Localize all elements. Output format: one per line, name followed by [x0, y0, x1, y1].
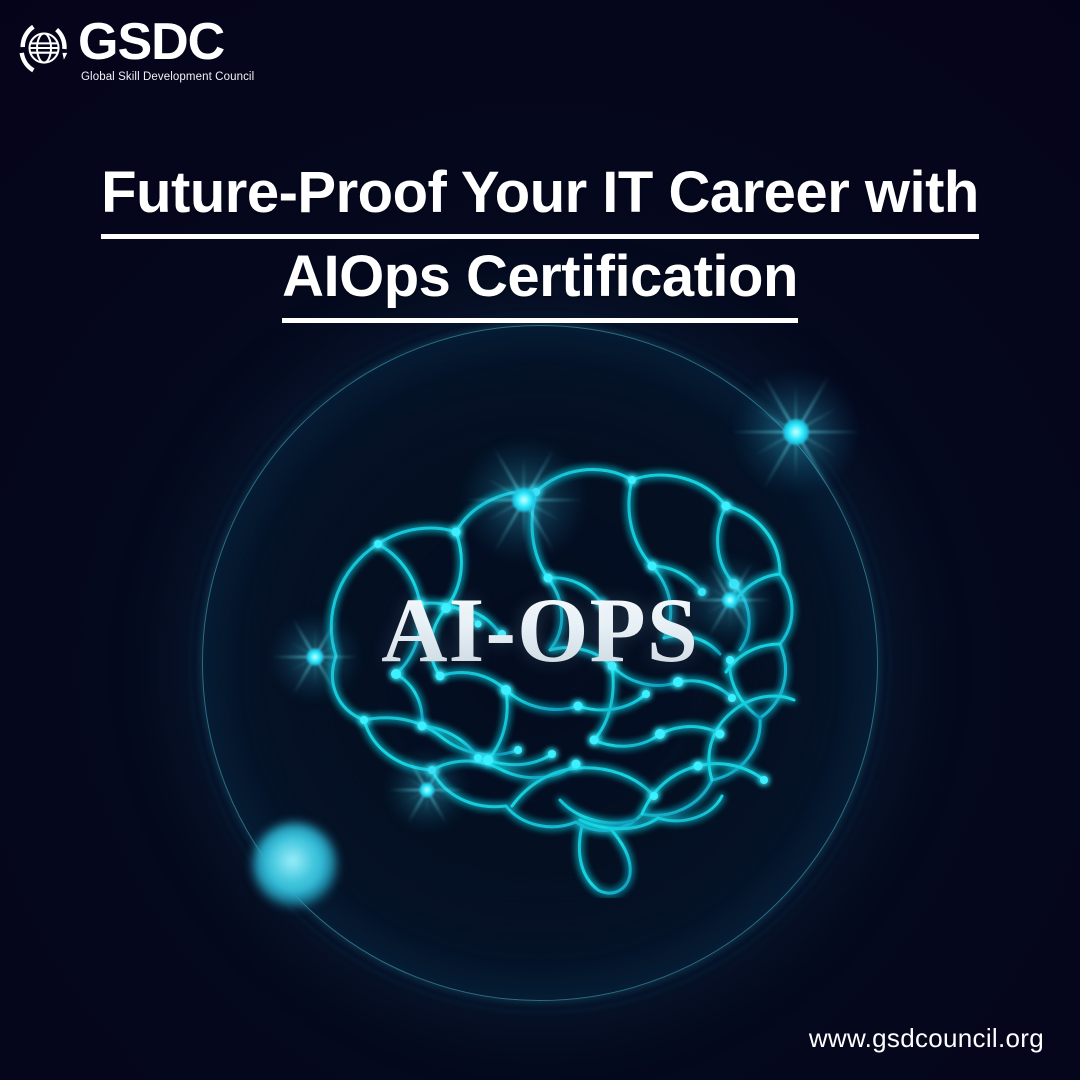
- glowing-orb-icon: [253, 823, 337, 907]
- page-title: Future-Proof Your IT Career with AIOps C…: [0, 155, 1080, 323]
- brand-tagline: Global Skill Development Council: [81, 70, 254, 84]
- sparkle-star-icon-brain-top: [449, 425, 599, 575]
- brand-name: GSDC: [78, 16, 254, 68]
- sparkle-star-icon-bottom-left: [377, 740, 477, 840]
- poster-canvas: AI-OPS: [0, 0, 1080, 1080]
- website-url[interactable]: www.gsdcouncil.org: [809, 1023, 1044, 1054]
- headline-line-2: AIOps Certification: [40, 239, 1040, 323]
- brand-logo[interactable]: GSDC Global Skill Development Council: [14, 16, 254, 84]
- headline-line-1-text: Future-Proof Your IT Career with: [101, 155, 979, 239]
- glowing-orb-core: [269, 839, 321, 891]
- sparkle-star-icon-top-right: [721, 357, 871, 507]
- headline-line-1: Future-Proof Your IT Career with: [40, 155, 1040, 239]
- sparkle-star-icon-left: [260, 602, 370, 712]
- aiops-wordmark: AI-OPS: [381, 577, 699, 683]
- headline-line-2-text: AIOps Certification: [282, 239, 798, 323]
- globe-icon: [14, 18, 76, 80]
